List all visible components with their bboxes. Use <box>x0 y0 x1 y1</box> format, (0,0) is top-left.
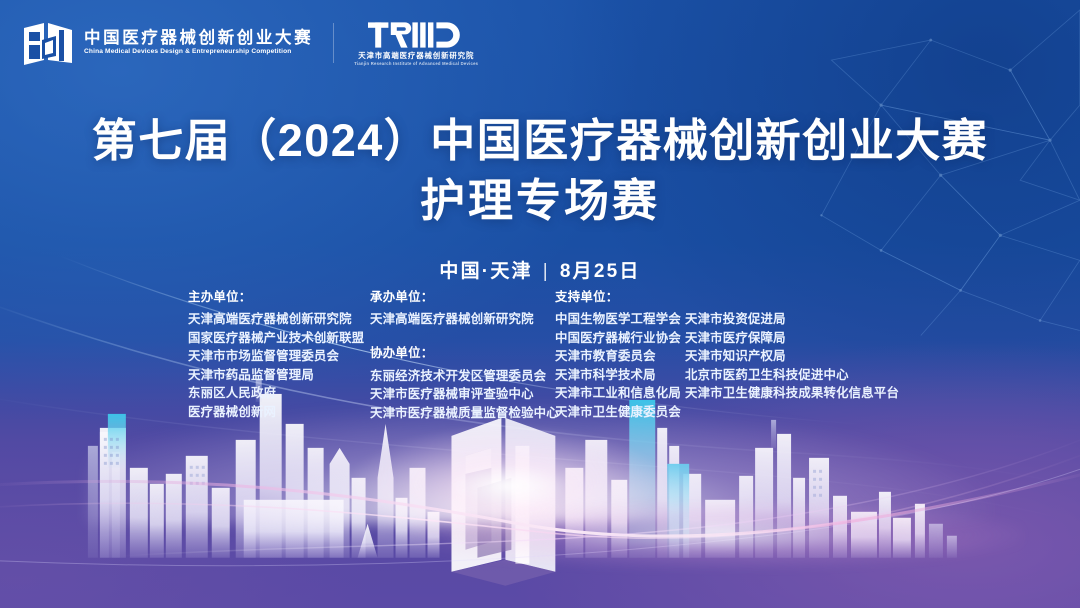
column-spacer <box>370 329 555 348</box>
cohost-organizer-heading: 协办单位： <box>370 347 555 359</box>
list-item: 天津市医疗保障局 <box>685 329 895 348</box>
list-item: 天津市工业和信息化局 <box>555 384 685 403</box>
list-item: 天津市卫生健康科技成果转化信息平台 <box>685 384 895 403</box>
title-line-1: 第七届（2024）中国医疗器械创新创业大赛 <box>0 113 1080 169</box>
list-item: 天津市市场监督管理委员会 <box>188 347 370 366</box>
organizer-column-support: 支持单位： 中国生物医学工程学会 中国医疗器械行业协会 天津市教育委员会 天津市… <box>555 291 895 421</box>
open-door-book-icon <box>22 20 74 66</box>
event-date: 8月25日 <box>560 261 641 282</box>
host-organizer-heading: 承办单位： <box>370 291 555 303</box>
support-column-b: 天津市投资促进局 天津市医疗保障局 天津市知识产权局 北京市医药卫生科技促进中心… <box>685 310 895 403</box>
list-item: 中国生物医学工程学会 <box>555 310 685 329</box>
list-item: 中国医疗器械行业协会 <box>555 329 685 348</box>
list-item: 北京市医药卫生科技促进中心 <box>685 366 895 385</box>
list-item: 医疗器械创新网 <box>188 403 370 422</box>
main-organizer-heading: 主办单位： <box>188 291 370 303</box>
location-date-line: 中国·天津|8月25日 <box>0 256 1080 283</box>
partner-logo-cn-text: 天津市高端医疗器械创新研究院 <box>358 52 474 59</box>
list-item: 天津市卫生健康委员会 <box>555 403 685 422</box>
list-item: 东丽区人民政府 <box>188 384 370 403</box>
list-item: 东丽经济技术开发区管理委员会 <box>370 367 555 386</box>
list-item: 国家医疗器械产业技术创新联盟 <box>188 329 370 348</box>
partner-institute-logo: 天津市高端医疗器械创新研究院 Tianjin Research Institut… <box>354 20 478 66</box>
support-organizer-heading: 支持单位： <box>555 291 895 303</box>
title-line-2: 护理专场赛 <box>0 173 1080 229</box>
list-item: 天津市知识产权局 <box>685 347 895 366</box>
main-logo-cn-text: 中国医疗器械创新创业大赛 <box>84 30 313 47</box>
list-item: 天津高端医疗器械创新研究院 <box>370 310 555 329</box>
right-light-burst <box>403 500 1023 570</box>
list-item: 天津市医疗器械审评查验中心 <box>370 385 555 404</box>
list-item: 天津市科学技术局 <box>555 366 685 385</box>
list-item: 天津市药品监督管理局 <box>188 366 370 385</box>
subtitle-separator: | <box>533 261 560 283</box>
list-item: 天津市医疗器械质量监督检验中心 <box>370 404 555 423</box>
organizer-column-host: 承办单位： 天津高端医疗器械创新研究院 协办单位： 东丽经济技术开发区管理委员会… <box>370 291 555 422</box>
list-item: 天津市投资促进局 <box>685 310 895 329</box>
organizer-column-main: 主办单位： 天津高端医疗器械创新研究院 国家医疗器械产业技术创新联盟 天津市市场… <box>188 291 370 421</box>
event-poster: 中国医疗器械创新创业大赛 China Medical Devices Desig… <box>0 0 1080 608</box>
logo-divider <box>333 23 334 63</box>
main-logo-en-text: China Medical Devices Design & Entrepren… <box>84 49 313 56</box>
event-location: 中国·天津 <box>439 261 532 282</box>
support-subcolumns: 中国生物医学工程学会 中国医疗器械行业协会 天津市教育委员会 天津市科学技术局 … <box>555 310 895 421</box>
list-item: 天津市教育委员会 <box>555 347 685 366</box>
list-item: 天津高端医疗器械创新研究院 <box>188 310 370 329</box>
partner-logo-en-text: Tianjin Research Institute of Advanced M… <box>354 62 478 66</box>
support-column-a: 中国生物医学工程学会 中国医疗器械行业协会 天津市教育委员会 天津市科学技术局 … <box>555 310 685 421</box>
trmd-wordmark-icon <box>368 20 464 50</box>
poster-title: 第七届（2024）中国医疗器械创新创业大赛 护理专场赛 <box>0 113 1080 229</box>
organizer-credits: 主办单位： 天津高端医疗器械创新研究院 国家医疗器械产业技术创新联盟 天津市市场… <box>188 291 895 422</box>
header-logo-bar: 中国医疗器械创新创业大赛 China Medical Devices Desig… <box>22 20 478 66</box>
main-competition-logo: 中国医疗器械创新创业大赛 China Medical Devices Desig… <box>22 20 313 66</box>
